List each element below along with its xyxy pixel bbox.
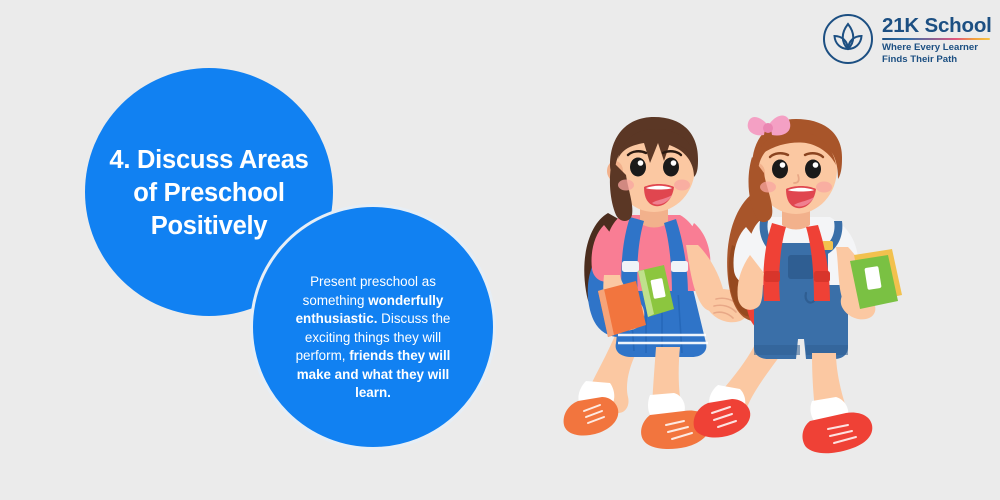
logo-tagline-line2: Finds Their Path [882, 54, 957, 65]
logo-tagline-line1: Where Every Learner [882, 42, 978, 53]
girl-right [694, 116, 902, 454]
girl-left [564, 117, 725, 449]
two-schoolgirls-holding-hands-illustration [560, 95, 940, 455]
body-paragraph: Present preschool as something wonderful… [280, 273, 466, 403]
logo-wordmark: 21K School Where Every Learner Finds The… [882, 13, 992, 65]
logo-name: 21K School [882, 15, 992, 37]
logo-gradient-rule [882, 38, 990, 41]
slide-canvas: 21K School Where Every Learner Finds The… [0, 0, 1000, 500]
body-bubble: Present preschool as something wonderful… [250, 204, 496, 450]
logo-tagline: Where Every Learner Finds Their Path [882, 42, 992, 65]
hair-bow [748, 116, 791, 136]
page-title: 4. Discuss Areas of Preschool Positively [97, 144, 322, 243]
brand-logo: 21K School Where Every Learner Finds The… [822, 10, 992, 68]
lotus-circle-logo-icon [822, 13, 874, 65]
